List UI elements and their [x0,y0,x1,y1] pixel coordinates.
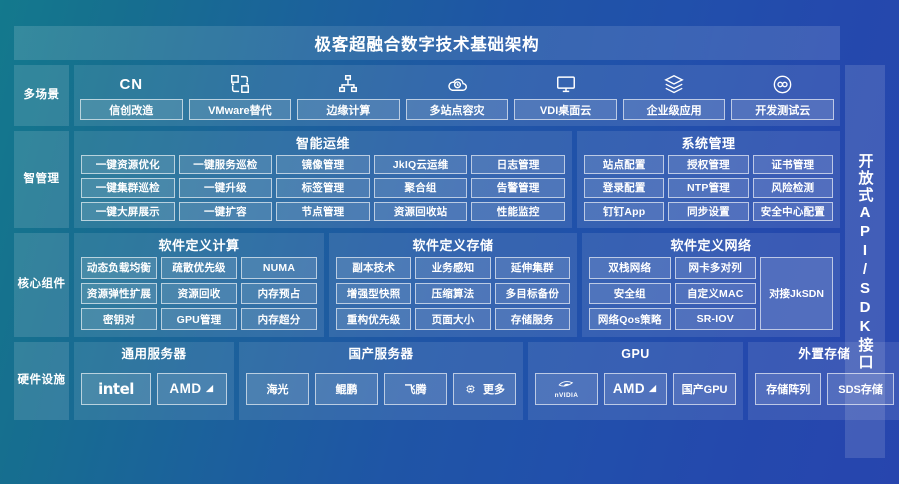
ops-cell-4[interactable]: 日志管理 [471,155,565,174]
sys-cell-7[interactable]: 同步设置 [668,202,748,221]
domestic-chip-more[interactable]: 更多 [453,373,516,405]
sdc-cell-4[interactable]: 资源回收 [161,283,237,305]
ops-cell-1[interactable]: 一键服务巡检 [179,155,273,174]
scenario-item-2[interactable]: 边缘计算 [297,69,400,120]
band-manage: 智管理 智能运维 一键资源优化 一键服务巡检 镜像管理 JkIQ云运维 日志管理… [14,131,840,228]
band-label-core: 核心 组件 [14,233,69,337]
band-label-core-line-0: 核心 [18,277,42,293]
group-title-intelligent-ops: 智能运维 [81,134,565,153]
sys-cell-6[interactable]: 钉钉App [584,202,664,221]
ops-cell-11[interactable]: 一键扩容 [179,202,273,221]
sdc-cell-6[interactable]: 密钥对 [81,308,157,330]
cloud-recovery-icon [446,69,469,99]
domestic-chip-more-label: 更多 [483,381,505,397]
scenario-item-4[interactable]: VDI桌面云 [514,69,617,120]
group-gpu: GPU nVIDIA [528,342,743,420]
diagram-main-column: 极客超融合数字技术基础架构 多场景 CN 信创改造 [14,26,840,458]
sdc-cell-0[interactable]: 动态负载均衡 [81,257,157,279]
ops-cell-13[interactable]: 资源回收站 [374,202,468,221]
band-core: 核心 组件 软件定义计算 动态负载均衡 疏散优先级 NUMA 资源弹性扩展 资源… [14,233,840,337]
band-label-hardware: 硬件 设施 [14,342,69,420]
sys-cell-8[interactable]: 安全中心配置 [753,202,833,221]
sys-cell-2[interactable]: 证书管理 [753,155,833,174]
scenario-label-5[interactable]: 企业级应用 [623,99,726,120]
sys-cell-3[interactable]: 登录配置 [584,178,664,197]
ops-cell-5[interactable]: 一键集群巡检 [81,178,175,197]
band-body-manage: 智能运维 一键资源优化 一键服务巡检 镜像管理 JkIQ云运维 日志管理 一键集… [74,131,840,228]
infinity-icon [771,69,794,99]
amd-logo-chip[interactable]: AMD [157,373,227,405]
group-grid-sdn: 双栈网络 网卡多对列 安全组 自定义MAC 网络Qos策略 SR-IOV [589,257,756,330]
sdc-cell-7[interactable]: GPU管理 [161,308,237,330]
sds-cell-5[interactable]: 多目标备份 [495,283,570,305]
sdn-cell-0[interactable]: 双栈网络 [589,257,671,279]
amd-logo-text: AMD [169,381,201,396]
amd-arrow-icon [204,383,215,394]
group-grid-sdc: 动态负载均衡 疏散优先级 NUMA 资源弹性扩展 资源回收 内存预占 密钥对 G… [81,257,317,330]
gpu-amd-logo: AMD [613,381,658,396]
domestic-chip-0[interactable]: 海光 [246,373,309,405]
ops-cell-2[interactable]: 镜像管理 [276,155,370,174]
group-title-domestic-server: 国产服务器 [246,344,516,364]
band-label-hardware-line-1: 设施 [42,373,66,389]
ops-cell-8[interactable]: 聚合组 [374,178,468,197]
sds-cell-7[interactable]: 页面大小 [415,308,490,330]
api-sdk-label: 开放式API/SDK接口 [858,153,873,371]
sdn-cell-5[interactable]: SR-IOV [675,308,757,330]
sdc-cell-1[interactable]: 疏散优先级 [161,257,237,279]
scenario-label-2[interactable]: 边缘计算 [297,99,400,120]
ops-cell-7[interactable]: 标签管理 [276,178,370,197]
sds-cell-3[interactable]: 增强型快照 [336,283,411,305]
sds-cell-4[interactable]: 压缩算法 [415,283,490,305]
sds-cell-0[interactable]: 副本技术 [336,257,411,279]
sdn-cell-2[interactable]: 安全组 [589,283,671,305]
sds-cell-8[interactable]: 存储服务 [495,308,570,330]
ops-cell-3[interactable]: JkIQ云运维 [374,155,468,174]
scenario-label-3[interactable]: 多站点容灾 [406,99,509,120]
scenario-item-0[interactable]: CN 信创改造 [80,69,183,120]
sdc-cell-8[interactable]: 内存超分 [241,308,317,330]
ops-cell-0[interactable]: 一键资源优化 [81,155,175,174]
group-grid-system-management: 站点配置 授权管理 证书管理 登录配置 NTP管理 风险检测 钉钉App 同步设… [584,155,833,221]
gpu-amd-logo-text: AMD [613,381,645,396]
ops-cell-10[interactable]: 一键大屏展示 [81,202,175,221]
group-title-sdc: 软件定义计算 [81,236,317,255]
scenario-item-3[interactable]: 多站点容灾 [406,69,509,120]
migration-icon [229,69,251,99]
band-body-scenarios: CN 信创改造 VMware替代 [74,65,840,126]
cn-text-icon: CN [119,69,143,99]
domestic-server-items: 海光 鲲鹏 飞腾 更多 [246,364,516,413]
gpu-domestic-chip[interactable]: 国产GPU [673,373,736,405]
amd-arrow-icon [647,383,658,394]
scenario-label-1[interactable]: VMware替代 [189,99,292,120]
page-title: 极客超融合数字技术基础架构 [14,26,840,60]
layers-icon [663,69,685,99]
architecture-diagram: 极客超融合数字技术基础架构 多场景 CN 信创改造 [14,26,885,458]
group-sdc: 软件定义计算 动态负载均衡 疏散优先级 NUMA 资源弹性扩展 资源回收 内存预… [74,233,324,337]
external-storage-chip-0[interactable]: 存储阵列 [755,373,821,405]
general-server-items: intel AMD [81,364,227,413]
chip-icon [464,382,477,396]
sdn-cell-4[interactable]: 网络Qos策略 [589,308,671,330]
sys-cell-4[interactable]: NTP管理 [668,178,748,197]
sdn-cell-1[interactable]: 网卡多对列 [675,257,757,279]
monitor-icon [555,69,577,99]
scenario-label-4[interactable]: VDI桌面云 [514,99,617,120]
api-sdk-sidebar: 开放式API/SDK接口 [845,65,885,458]
group-title-sdn: 软件定义网络 [589,236,833,255]
group-grid-intelligent-ops: 一键资源优化 一键服务巡检 镜像管理 JkIQ云运维 日志管理 一键集群巡检 一… [81,155,565,221]
scenario-item-6[interactable]: 开发测试云 [731,69,834,120]
band-label-hardware-line-0: 硬件 [18,373,42,389]
scenarios-panel: CN 信创改造 VMware替代 [74,65,840,126]
scenario-item-1[interactable]: VMware替代 [189,69,292,120]
domestic-chip-1[interactable]: 鲲鹏 [315,373,378,405]
sdn-cell-3[interactable]: 自定义MAC [675,283,757,305]
sdc-cell-5[interactable]: 内存预占 [241,283,317,305]
band-label-manage: 智管理 [14,131,69,228]
group-intelligent-ops: 智能运维 一键资源优化 一键服务巡检 镜像管理 JkIQ云运维 日志管理 一键集… [74,131,572,228]
band-hardware: 硬件 设施 通用服务器 intel AMD [14,342,840,420]
band-body-hardware: 通用服务器 intel AMD 国产服务 [74,342,899,420]
ops-cell-6[interactable]: 一键升级 [179,178,273,197]
group-title-sds: 软件定义存储 [336,236,570,255]
sys-cell-5[interactable]: 风险检测 [753,178,833,197]
band-scenarios: 多场景 CN 信创改造 [14,65,840,126]
gpu-amd-logo-chip[interactable]: AMD [604,373,667,405]
group-sds: 软件定义存储 副本技术 业务感知 延伸集群 增强型快照 压缩算法 多目标备份 重… [329,233,577,337]
domestic-chip-2[interactable]: 飞腾 [384,373,447,405]
sdc-cell-3[interactable]: 资源弹性扩展 [81,283,157,305]
intel-logo-chip[interactable]: intel [81,373,151,405]
nvidia-eye-icon [557,379,576,391]
sys-cell-1[interactable]: 授权管理 [668,155,748,174]
ops-cell-12[interactable]: 节点管理 [276,202,370,221]
sds-cell-1[interactable]: 业务感知 [415,257,490,279]
gpu-items: nVIDIA AMD 国产GPU [535,364,736,413]
nvidia-logo-text: nVIDIA [555,392,579,399]
band-body-core: 软件定义计算 动态负载均衡 疏散优先级 NUMA 资源弹性扩展 资源回收 内存预… [74,233,840,337]
group-system-management: 系统管理 站点配置 授权管理 证书管理 登录配置 NTP管理 风险检测 钉钉Ap… [577,131,840,228]
ops-cell-9[interactable]: 告警管理 [471,178,565,197]
ops-cell-14[interactable]: 性能监控 [471,202,565,221]
sds-cell-6[interactable]: 重构优先级 [336,308,411,330]
nvidia-logo-chip[interactable]: nVIDIA [535,373,598,405]
scenario-label-6[interactable]: 开发测试云 [731,99,834,120]
group-sdn: 软件定义网络 双栈网络 网卡多对列 安全组 自定义MAC 网络Qos策略 SR-… [582,233,840,337]
group-title-gpu: GPU [535,344,736,364]
hierarchy-icon [337,69,359,99]
amd-logo: AMD [169,381,214,396]
sys-cell-0[interactable]: 站点配置 [584,155,664,174]
group-grid-sds: 副本技术 业务感知 延伸集群 增强型快照 压缩算法 多目标备份 重构优先级 页面… [336,257,570,330]
group-general-server: 通用服务器 intel AMD [74,342,234,420]
scenario-item-5[interactable]: 企业级应用 [623,69,726,120]
group-title-general-server: 通用服务器 [81,344,227,364]
network-layout: 双栈网络 网卡多对列 安全组 自定义MAC 网络Qos策略 SR-IOV 对接J… [589,257,833,330]
sdn-connect-jksdn-cell[interactable]: 对接JkSDN [760,257,833,330]
nvidia-logo: nVIDIA [555,379,579,399]
sdc-cell-2[interactable]: NUMA [241,257,317,279]
group-title-system-management: 系统管理 [584,134,833,153]
intel-logo: intel [98,380,134,398]
band-label-core-line-1: 组件 [42,277,66,293]
band-label-scenarios: 多场景 [14,65,69,126]
group-domestic-server: 国产服务器 海光 鲲鹏 飞腾 更多 [239,342,523,420]
scenario-label-0[interactable]: 信创改造 [80,99,183,120]
sds-cell-2[interactable]: 延伸集群 [495,257,570,279]
